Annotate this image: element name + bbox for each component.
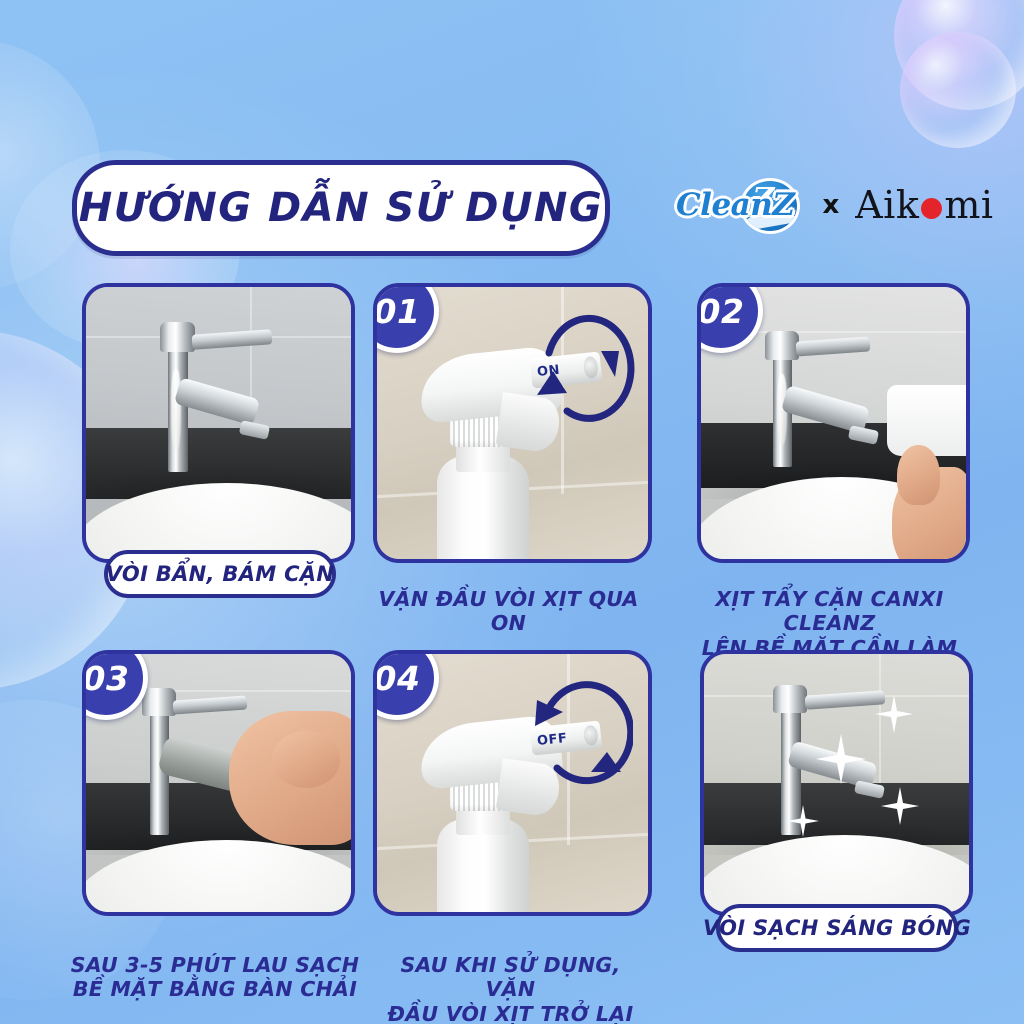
cleanz-logo: CleanZ Z	[676, 176, 794, 234]
page-title: HƯỚNG DẪN SỬ DỤNG	[79, 185, 603, 231]
caption-pill-clean-faucet: VÒI SẠCH SÁNG BÓNG	[716, 904, 958, 952]
nozzle-text: ON	[537, 363, 561, 380]
caption-text: SAU KHI SỬ DỤNG, VẶN ĐẦU VÒI XỊT TRỞ LẠI…	[388, 953, 634, 1024]
step-card-04: OFF 04	[373, 650, 652, 916]
step-card-03: 03	[82, 650, 355, 916]
thumb	[897, 445, 939, 505]
caption-text: VÒI SẠCH SÁNG BÓNG	[703, 916, 971, 940]
step-card-dirty-faucet	[82, 283, 355, 563]
aikomi-logo: Aik mi	[855, 183, 993, 227]
step-badge-number: 04	[374, 659, 421, 698]
brand-separator: x	[822, 190, 839, 220]
bubble-decor-top-right-small	[900, 32, 1016, 148]
bubble-decor-upper-left	[0, 40, 100, 290]
step-badge-number: 03	[83, 659, 130, 698]
caption-pill-dirty-faucet: VÒI BẨN, BÁM CẶN	[104, 550, 336, 598]
caption-text: SAU 3-5 PHÚT LAU SẠCH BỀ MẶT BẰNG BÀN CH…	[71, 953, 360, 1002]
page-title-pill: HƯỚNG DẪN SỬ DỤNG	[72, 160, 610, 256]
step-badge-number: 02	[698, 292, 745, 331]
cleanz-wordmark: CleanZ	[676, 187, 794, 223]
caption-step-03: SAU 3-5 PHÚT LAU SẠCH BỀ MẶT BẰNG BÀN CH…	[70, 928, 360, 1002]
caption-text: VẶN ĐẦU VÒI XỊT QUA ON	[379, 587, 639, 636]
bubble-decor-top-right-large	[894, 0, 1024, 110]
step-card-02: 02	[697, 283, 970, 563]
step-card-01: ON 01	[373, 283, 652, 563]
aikomi-text-post: mi	[944, 183, 993, 227]
nozzle-text: OFF	[537, 730, 569, 748]
brand-lockup: CleanZ Z x Aik mi	[676, 173, 994, 237]
photo-clean-faucet	[704, 654, 969, 912]
caption-step-04: SAU KHI SỬ DỤNG, VẶN ĐẦU VÒI XỊT TRỞ LẠI…	[373, 928, 648, 1024]
nozzle-cap-icon	[584, 356, 600, 379]
aikomi-red-dot-icon	[921, 198, 942, 219]
caption-text: VÒI BẨN, BÁM CẶN	[106, 562, 335, 586]
infographic-canvas: HƯỚNG DẪN SỬ DỤNG CleanZ Z x Aik mi	[0, 0, 1024, 1024]
step-card-clean-faucet	[700, 650, 973, 916]
nozzle-cap-icon	[584, 724, 600, 746]
photo-dirty-faucet	[86, 287, 351, 559]
spray-bottle-edge	[887, 385, 971, 456]
fingers	[272, 731, 341, 788]
caption-step-01: VẶN ĐẦU VÒI XỊT QUA ON	[373, 562, 644, 636]
step-badge-number: 01	[374, 292, 421, 331]
aikomi-text-pre: Aik	[855, 183, 919, 227]
